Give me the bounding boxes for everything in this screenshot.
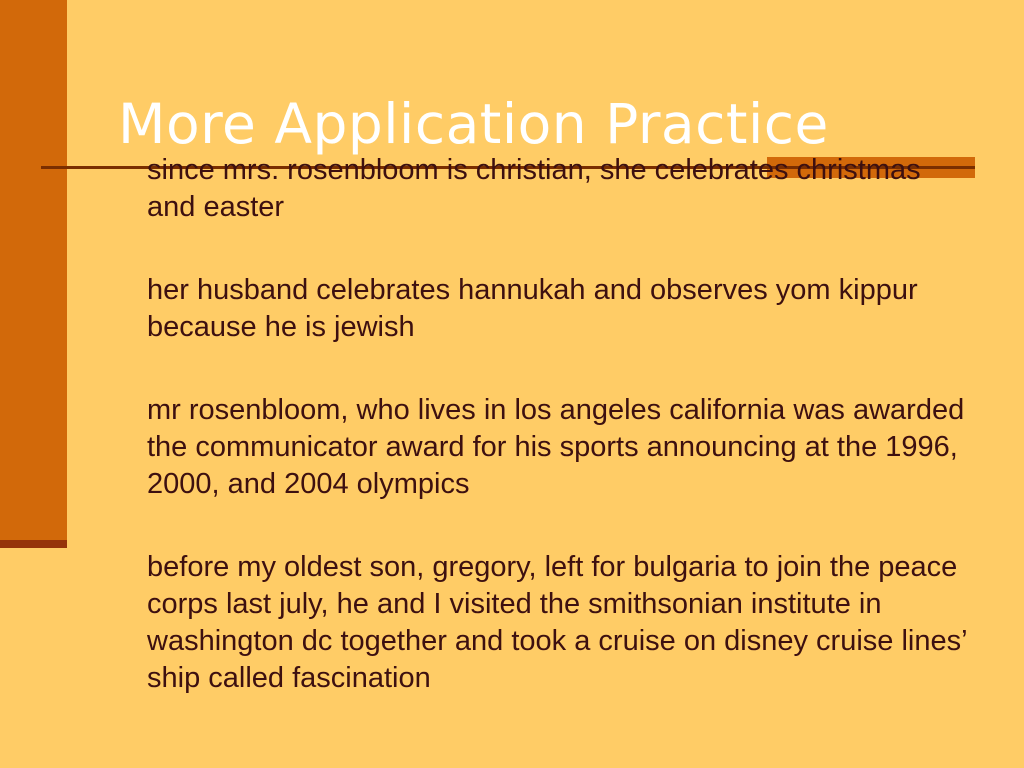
page-title: More Application Practice [118, 91, 998, 157]
left-accent-bar [0, 0, 67, 540]
body-paragraph: before my oldest son, gregory, left for … [147, 549, 1013, 697]
body-content: since mrs. rosenbloom is christian, she … [147, 152, 1013, 697]
body-paragraph: mr rosenbloom, who lives in los angeles … [147, 392, 987, 503]
left-accent-bar-shadow [0, 540, 67, 548]
body-paragraph: since mrs. rosenbloom is christian, she … [147, 152, 937, 226]
presentation-slide: More Application Practice since mrs. ros… [0, 0, 1024, 768]
body-paragraph: her husband celebrates hannukah and obse… [147, 272, 977, 346]
